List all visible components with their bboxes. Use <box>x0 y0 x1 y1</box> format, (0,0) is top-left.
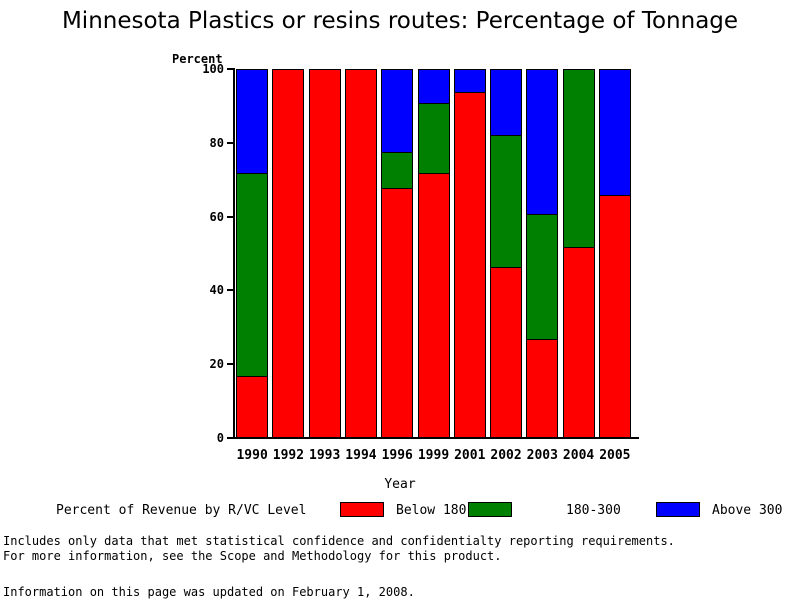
bar-segment-180-300-1996[interactable] <box>382 152 412 188</box>
bar-segment-divider <box>382 152 412 153</box>
bar-segment-above-300-2002[interactable] <box>491 70 521 135</box>
bar-segment-below-180-2004[interactable] <box>564 247 594 438</box>
bar-segment-below-180-1999[interactable] <box>419 173 449 438</box>
bar-segment-180-300-2004[interactable] <box>564 70 594 247</box>
bar-segment-above-300-1999[interactable] <box>419 70 449 103</box>
footer-note-line-2: For more information, see the Scope and … <box>3 549 797 564</box>
bar-2002[interactable] <box>490 69 522 438</box>
y-axis-tick <box>227 68 234 70</box>
bar-segment-above-300-2001[interactable] <box>455 70 485 92</box>
bar-segment-below-180-1990[interactable] <box>237 376 267 438</box>
y-axis-tick-label-text: 40 <box>184 284 224 296</box>
bar-segment-above-300-1990[interactable] <box>237 70 267 173</box>
bar-segment-below-180-1994[interactable] <box>346 70 376 438</box>
bar-1996[interactable] <box>381 69 413 438</box>
y-axis-tick-label: 40 <box>180 284 224 296</box>
legend-swatch-180-300 <box>468 502 512 517</box>
bar-segment-180-300-2003[interactable] <box>527 214 557 339</box>
footer-updated-text: Information on this page was updated on … <box>3 585 415 599</box>
bar-segment-below-180-1992[interactable] <box>273 70 303 438</box>
legend-title: Percent of Revenue by R/VC Level <box>56 503 306 518</box>
chart-legend: Percent of Revenue by R/VC Level Below 1… <box>0 500 800 522</box>
y-axis-tick-label-text: 80 <box>184 137 224 149</box>
bar-segment-180-300-1999[interactable] <box>419 103 449 173</box>
y-axis-tick-label-text: 60 <box>184 211 224 223</box>
legend-swatch-above-300 <box>656 502 700 517</box>
bar-2001[interactable] <box>454 69 486 438</box>
bar-segment-divider <box>382 188 412 189</box>
bar-segment-below-180-2002[interactable] <box>491 267 521 438</box>
y-axis-tick <box>227 289 234 291</box>
bar-segment-below-180-1996[interactable] <box>382 188 412 438</box>
bar-1999[interactable] <box>418 69 450 438</box>
y-axis-tick <box>227 363 234 365</box>
bar-segment-below-180-2003[interactable] <box>527 339 557 438</box>
bar-2003[interactable] <box>526 69 558 438</box>
bar-2005[interactable] <box>599 69 631 438</box>
bar-segment-divider <box>419 173 449 174</box>
bar-segment-divider <box>237 173 267 174</box>
bar-segment-divider <box>455 92 485 93</box>
x-axis-title: Year <box>0 477 800 492</box>
bar-segment-180-300-2002[interactable] <box>491 135 521 268</box>
bar-segment-divider <box>564 247 594 248</box>
bar-1993[interactable] <box>309 69 341 438</box>
y-axis-tick-label: 100 <box>180 63 224 75</box>
y-axis-tick <box>227 142 234 144</box>
bar-segment-above-300-2005[interactable] <box>600 70 630 195</box>
bar-segment-divider <box>600 195 630 196</box>
y-axis-tick-label: 0 <box>180 432 224 444</box>
y-axis-tick-label: 20 <box>180 358 224 370</box>
bar-segment-below-180-2005[interactable] <box>600 195 630 438</box>
bar-segment-divider <box>419 103 449 104</box>
bar-segment-below-180-2001[interactable] <box>455 92 485 438</box>
bar-1994[interactable] <box>345 69 377 438</box>
y-axis-tick <box>227 437 234 439</box>
y-axis-tick-label: 80 <box>180 137 224 149</box>
legend-label-above-300: Above 300 <box>712 503 782 518</box>
footer-notes: Includes only data that met statistical … <box>3 534 797 564</box>
y-axis-tick-label-text: 20 <box>184 358 224 370</box>
bar-1992[interactable] <box>272 69 304 438</box>
y-axis-tick-label-text: 0 <box>184 432 224 444</box>
bar-segment-above-300-2003[interactable] <box>527 70 557 214</box>
footer-note-line-1: Includes only data that met statistical … <box>3 534 797 549</box>
y-axis-tick-label: 60 <box>180 211 224 223</box>
bar-segment-above-300-1996[interactable] <box>382 70 412 152</box>
legend-label-180-300: 180-300 <box>566 503 621 518</box>
bar-segment-divider <box>237 376 267 377</box>
bar-segment-divider <box>491 267 521 268</box>
bar-segment-below-180-1993[interactable] <box>310 70 340 438</box>
chart-plot-wrapper: Percent 020406080100 1990199219931994199… <box>0 0 800 470</box>
legend-label-below-180: Below 180 <box>396 503 466 518</box>
bar-2004[interactable] <box>563 69 595 438</box>
bar-segment-divider <box>527 339 557 340</box>
plot-area <box>234 69 633 438</box>
y-axis-tick-label-text: 100 <box>184 63 224 75</box>
bar-1990[interactable] <box>236 69 268 438</box>
legend-swatch-below-180 <box>340 502 384 517</box>
y-axis-tick <box>227 216 234 218</box>
bar-segment-divider <box>491 135 521 136</box>
bar-segment-divider <box>527 214 557 215</box>
bar-segment-180-300-1990[interactable] <box>237 173 267 375</box>
x-axis-tick-label-2005: 2005 <box>589 448 641 463</box>
